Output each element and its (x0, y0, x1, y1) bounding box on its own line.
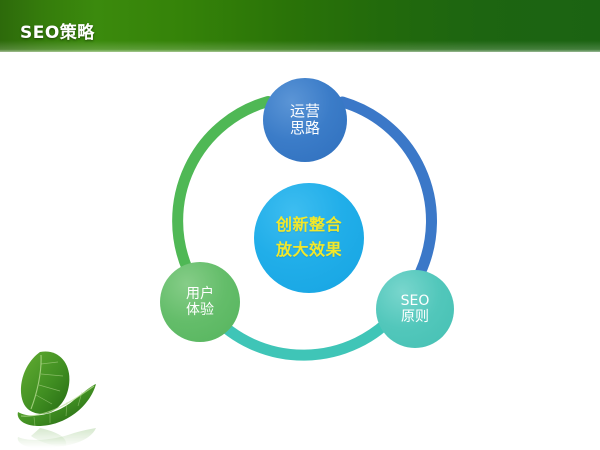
header-bar: SEO策略 (0, 0, 600, 52)
node-operations-line-1: 运营 (290, 103, 320, 120)
cycle-diagram: 运营 思路 用户 体验 SEO 原则 创新整合 放大效果 (0, 52, 600, 450)
node-center[interactable]: 创新整合 放大效果 (254, 183, 364, 293)
slide-canvas: SEO策略 运营 思路 用户 体验 SEO 原则 创新整合 (0, 0, 600, 450)
leaf-upper (21, 351, 69, 413)
node-operations-line-2: 思路 (290, 120, 320, 137)
node-center-line-1: 创新整合 (276, 216, 342, 235)
arc-teal-path (212, 313, 397, 355)
node-center-line-2: 放大效果 (276, 241, 342, 260)
leaf-icon (4, 344, 124, 450)
node-seo-principles-line-1: SEO (401, 293, 430, 309)
node-operations[interactable]: 运营 思路 (263, 78, 347, 162)
node-seo-principles-line-2: 原则 (401, 309, 429, 325)
leaf-reflection (18, 428, 96, 448)
node-user-experience-line-2: 体验 (186, 302, 214, 318)
node-user-experience-line-1: 用户 (186, 286, 214, 302)
node-seo-principles[interactable]: SEO 原则 (376, 270, 454, 348)
node-user-experience[interactable]: 用户 体验 (160, 262, 240, 342)
page-title: SEO策略 (20, 18, 95, 43)
